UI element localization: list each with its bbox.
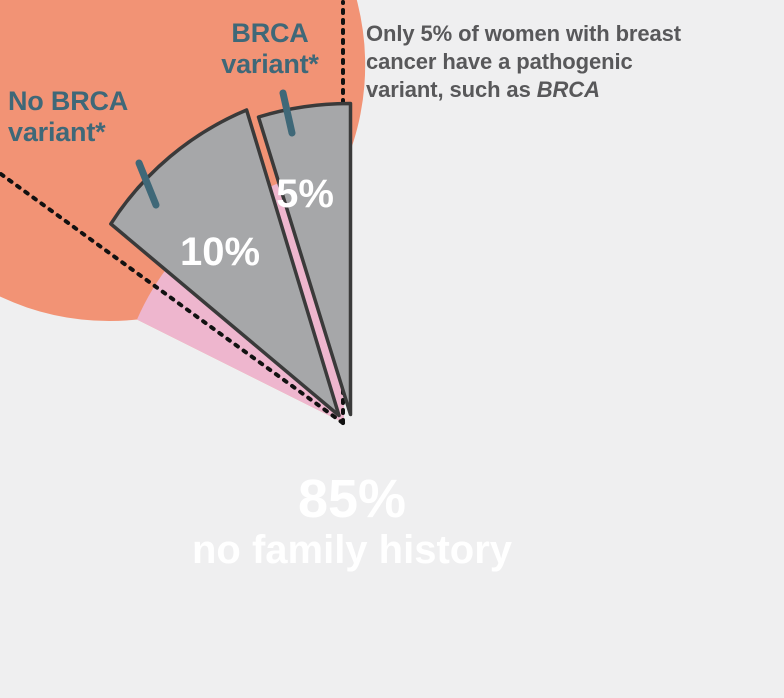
annotation-text-block: Only 5% of women with breast cancer have… xyxy=(366,20,784,104)
slice-label-no-family-history: no family history xyxy=(192,528,513,572)
annotation-line-1: Only 5% of women with breast xyxy=(366,20,784,48)
annotation-gene-name: BRCA xyxy=(537,77,600,102)
annotation-line-3: variant, such as BRCA xyxy=(366,76,784,104)
callout-label-brca-variant: BRCA variant* xyxy=(196,18,344,81)
infographic-canvas: 10% 5% 85% no family history No BRCA var… xyxy=(0,0,784,698)
slice-label-5-percent: 5% xyxy=(276,172,334,216)
slice-label-85-percent: 85% xyxy=(298,469,406,529)
callout-label-no-brca-variant: No BRCA variant* xyxy=(8,86,218,149)
slice-label-10-percent: 10% xyxy=(180,230,260,274)
annotation-line-2: cancer have a pathogenic xyxy=(366,48,784,76)
annotation-line-3-prefix: variant, such as xyxy=(366,77,537,102)
